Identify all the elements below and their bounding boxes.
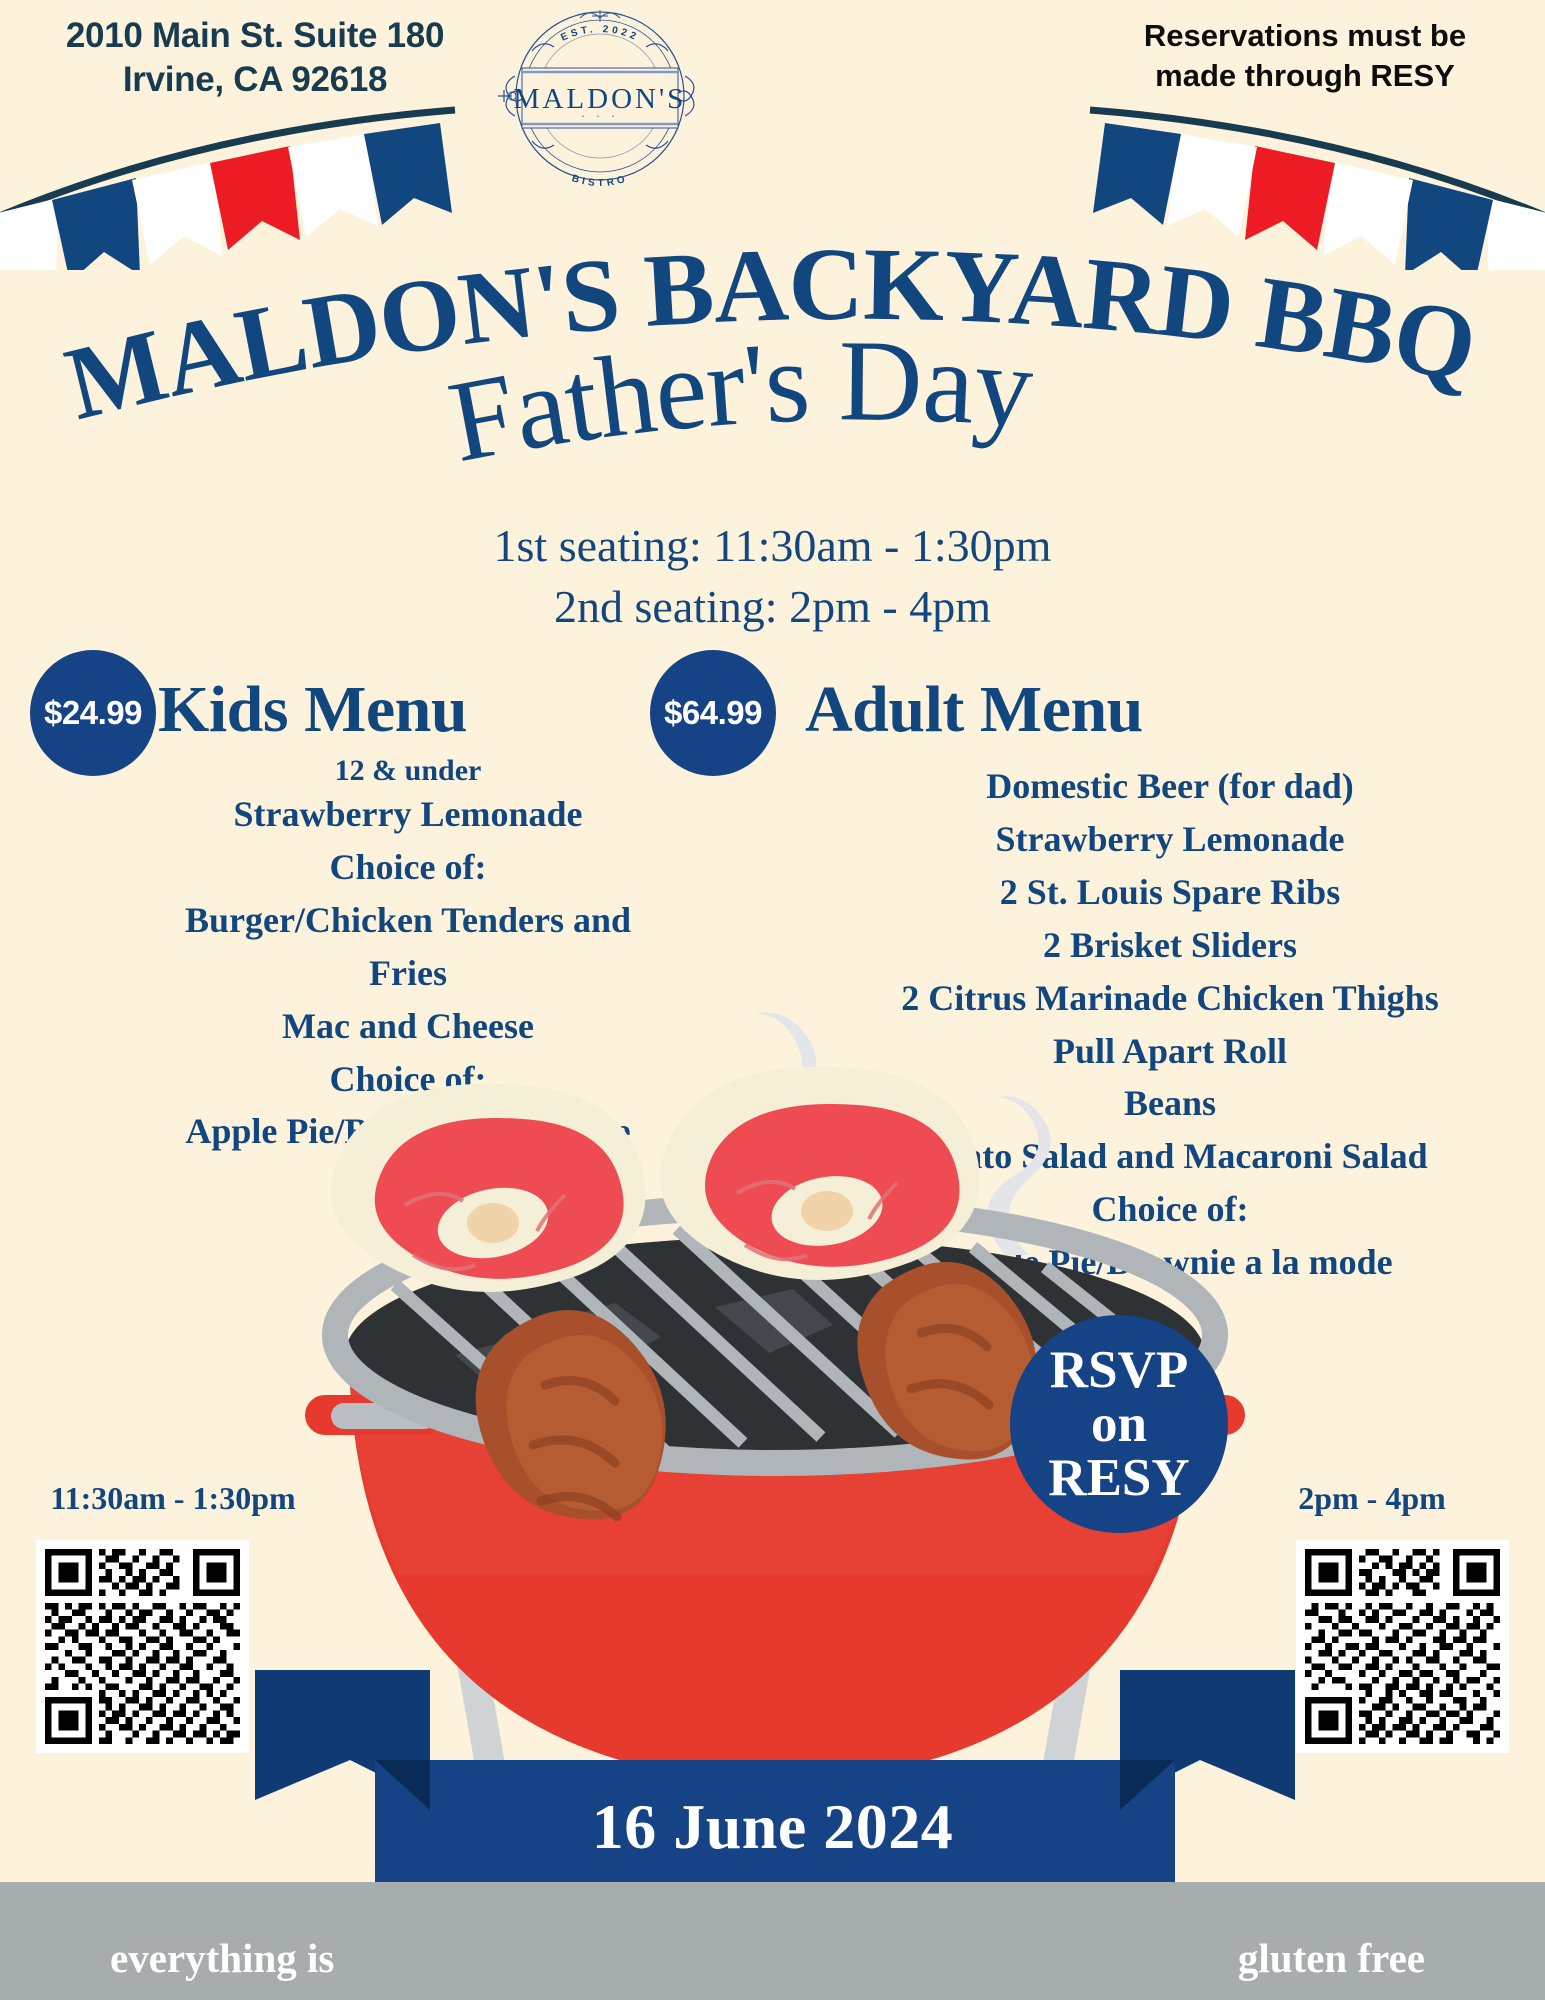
footer-left-text: everything is bbox=[110, 1934, 334, 1982]
rsvp-badge[interactable]: RSVP on RESY bbox=[1010, 1315, 1228, 1533]
logo-subname: BISTRO bbox=[570, 173, 629, 189]
rsvp-line-2: on bbox=[1091, 1397, 1147, 1451]
qr-code-second-seating[interactable] bbox=[1296, 1540, 1509, 1753]
steak-icon bbox=[331, 1084, 646, 1292]
maldons-bistro-logo: MALDON'S · · · EST. 2022 BISTRO bbox=[460, 0, 740, 196]
reservation-note: Reservations must be made through RESY bbox=[1095, 16, 1515, 97]
steak-icon bbox=[660, 1067, 980, 1280]
event-date: 16 June 2024 bbox=[0, 1790, 1545, 1864]
address-line-1: 2010 Main St. Suite 180 bbox=[40, 14, 470, 58]
svg-text:BISTRO: BISTRO bbox=[570, 173, 629, 189]
adult-price-badge: $64.99 bbox=[650, 650, 776, 776]
poster-canvas: 2010 Main St. Suite 180 Irvine, CA 92618… bbox=[0, 0, 1545, 2000]
adult-menu-header: $64.99 Adult Menu bbox=[805, 650, 1535, 760]
seating-times: 1st seating: 11:30am - 1:30pm 2nd seatin… bbox=[0, 516, 1545, 637]
reservation-note-line-2: made through RESY bbox=[1095, 56, 1515, 96]
logo-dots: · · · bbox=[581, 109, 619, 123]
kids-menu-title: Kids Menu bbox=[158, 650, 658, 748]
poster-title: MALDON'S BACKYARD BBQ Father's Day bbox=[0, 200, 1545, 500]
adult-menu-title: Adult Menu bbox=[805, 650, 1535, 748]
menu-item: Strawberry Lemonade bbox=[158, 788, 658, 841]
venue-address: 2010 Main St. Suite 180 Irvine, CA 92618 bbox=[40, 14, 470, 102]
kids-price-badge: $24.99 bbox=[30, 650, 156, 776]
menu-item: 2 St. Louis Spare Ribs bbox=[805, 866, 1535, 919]
seating-first: 1st seating: 11:30am - 1:30pm bbox=[0, 516, 1545, 577]
footer-right-text: gluten free bbox=[1238, 1934, 1425, 1982]
menu-item: Strawberry Lemonade bbox=[805, 813, 1535, 866]
qr-left-time-label: 11:30am - 1:30pm bbox=[18, 1480, 328, 1517]
seating-second: 2nd seating: 2pm - 4pm bbox=[0, 577, 1545, 638]
menu-item: Choice of: bbox=[158, 841, 658, 894]
rsvp-line-1: RSVP bbox=[1050, 1343, 1188, 1397]
reservation-note-line-1: Reservations must be bbox=[1095, 16, 1515, 56]
qr-right-time-label: 2pm - 4pm bbox=[1217, 1480, 1527, 1517]
qr-code-first-seating[interactable] bbox=[36, 1540, 249, 1753]
kids-menu-header: $24.99 Kids Menu bbox=[18, 650, 658, 760]
menu-item: Domestic Beer (for dad) bbox=[805, 760, 1535, 813]
rsvp-line-3: RESY bbox=[1048, 1451, 1189, 1505]
address-line-2: Irvine, CA 92618 bbox=[40, 58, 470, 102]
